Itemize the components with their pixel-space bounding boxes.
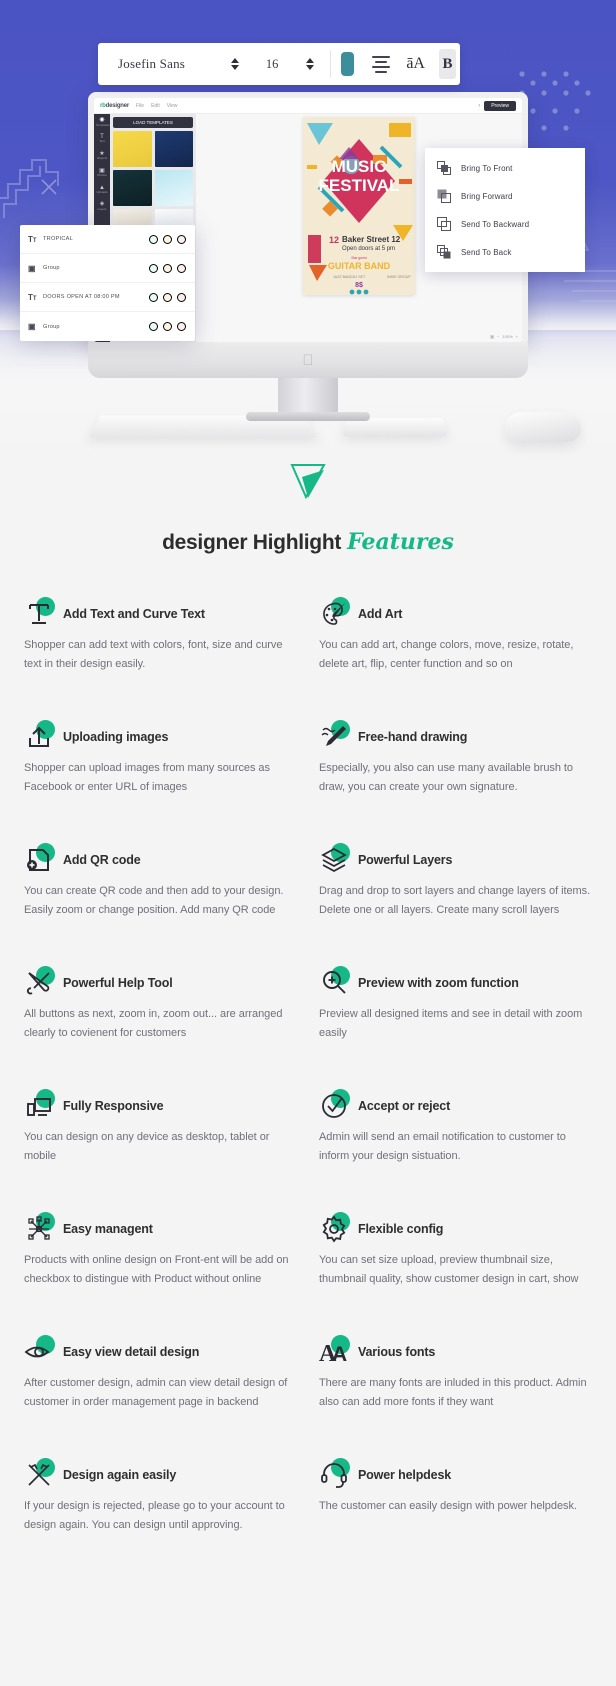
layer-row[interactable]: ▣ Group xyxy=(20,254,195,283)
delete-icon[interactable] xyxy=(177,264,186,273)
rail-label-layers: Layers xyxy=(96,208,108,211)
toolbar-divider xyxy=(330,51,331,77)
feature-description: Drag and drop to sort layers and change … xyxy=(319,882,592,919)
font-family-select[interactable]: Josefin Sans xyxy=(102,56,230,72)
x-decoration xyxy=(40,178,58,196)
feature-title: Preview with zoom function xyxy=(358,976,519,990)
lock-icon[interactable] xyxy=(163,322,172,331)
feature-description: Shopper can add text with colors, font, … xyxy=(24,636,297,673)
svg-text:DJ SET: DJ SET xyxy=(353,275,366,279)
feature-title: Add Text and Curve Text xyxy=(63,607,205,621)
feature-item-accept-or-reject: Accept or reject Admin will send an emai… xyxy=(319,1080,592,1203)
text-layer-icon: TT xyxy=(28,235,43,244)
feature-item-preview-zoom: Preview with zoom function Preview all d… xyxy=(319,957,592,1080)
feature-item-add-qr-code: Add QR code You can create QR code and t… xyxy=(24,834,297,957)
layer-label: TROPICAL xyxy=(43,236,149,242)
feature-item-powerful-help-tool: Powerful Help Tool All buttons as next, … xyxy=(24,957,297,1080)
feature-description: Shopper can upload images from many sour… xyxy=(24,759,297,796)
align-center-icon[interactable] xyxy=(372,56,390,73)
delete-icon[interactable] xyxy=(177,322,186,331)
rail-item-uploads[interactable]: ▲Uploads xyxy=(96,185,108,195)
feature-description: After customer design, admin can view de… xyxy=(24,1374,297,1411)
app-menu-file[interactable]: File xyxy=(136,103,144,109)
bring-to-front-icon xyxy=(437,161,451,175)
feature-description: Admin will send an email notification to… xyxy=(319,1128,592,1165)
app-menu-view[interactable]: View xyxy=(167,103,178,109)
lock-icon[interactable] xyxy=(163,293,172,302)
svg-text:Baker Street 12: Baker Street 12 xyxy=(342,235,401,244)
feature-title: Design again easily xyxy=(63,1468,176,1482)
svg-text:Open doors at 5 pm: Open doors at 5 pm xyxy=(342,246,395,252)
layer-label: DOORS OPEN AT 08:00 PM xyxy=(43,294,149,300)
context-menu-label: Send To Back xyxy=(461,248,511,257)
zoom-value: 100% xyxy=(502,334,512,339)
layer-row[interactable]: TT TROPICAL xyxy=(20,225,195,254)
feature-title: Various fonts xyxy=(358,1345,435,1359)
rail-item-objects[interactable]: ★Objects xyxy=(96,151,108,161)
template-card[interactable] xyxy=(155,170,194,206)
section-header: designer HighlightFeatures xyxy=(0,462,616,555)
app-logo-text: designer xyxy=(106,103,129,109)
layer-row[interactable]: ▣ Group xyxy=(20,312,195,341)
delete-icon[interactable] xyxy=(177,293,186,302)
headset-icon xyxy=(319,1460,349,1490)
feature-title: Free-hand drawing xyxy=(358,730,467,744)
rail-label-templates: Templates xyxy=(96,124,108,127)
feature-item-free-hand-drawing: Free-hand drawing Especially, you also c… xyxy=(319,711,592,834)
palette-icon xyxy=(319,599,349,629)
lock-icon[interactable] xyxy=(163,235,172,244)
feature-item-various-fonts: AA Various fonts There are many fonts ar… xyxy=(319,1326,592,1449)
send-to-back-icon xyxy=(437,245,451,259)
context-menu-label: Bring To Front xyxy=(461,164,513,173)
feature-title: Easy managent xyxy=(63,1222,153,1236)
imac-stand-neck xyxy=(278,378,338,416)
feature-description: All buttons as next, zoom in, zoom out..… xyxy=(24,1005,297,1042)
app-menu-edit[interactable]: Edit xyxy=(151,103,160,109)
imac-chin:  xyxy=(88,342,528,378)
svg-text:FESTIVAL: FESTIVAL xyxy=(319,176,400,195)
network-nodes-icon xyxy=(24,1214,54,1244)
font-size-input[interactable]: 16 xyxy=(239,57,305,72)
rail-item-layers[interactable]: ◈Layers xyxy=(96,201,108,211)
context-menu-label: Bring Forward xyxy=(461,192,513,201)
feature-item-add-art: Add Art You can add art, change colors, … xyxy=(319,588,592,711)
feature-item-design-again-easily: Design again easily If your design is re… xyxy=(24,1449,297,1572)
context-menu-item-bring-forward[interactable]: Bring Forward xyxy=(425,182,585,210)
visibility-icon[interactable] xyxy=(149,322,158,331)
feature-title: Fully Responsive xyxy=(63,1099,163,1113)
template-card[interactable] xyxy=(113,131,152,167)
feature-title: Accept or reject xyxy=(358,1099,450,1113)
feature-item-powerful-layers: Powerful Layers Drag and drop to sort la… xyxy=(319,834,592,957)
feature-title: Flexible config xyxy=(358,1222,443,1236)
svg-text:Star guest: Star guest xyxy=(351,256,367,260)
context-menu-label: Send To Backward xyxy=(461,220,529,229)
load-templates-button[interactable]: LOAD TEMPLATES xyxy=(113,117,193,128)
visibility-icon[interactable] xyxy=(149,264,158,273)
svg-text:GUITAR BAND: GUITAR BAND xyxy=(328,261,391,271)
preview-button[interactable]: Preview xyxy=(484,101,516,111)
feature-title: Add QR code xyxy=(63,853,141,867)
add-text-icon xyxy=(24,599,54,629)
mouse xyxy=(505,412,581,442)
page-root: rbdesigner File Edit View ‹ Preview ◉Tem… xyxy=(0,0,616,1686)
rail-label-objects: Objects xyxy=(96,157,108,160)
zoom-control[interactable]: ▦ − 100% + xyxy=(490,334,518,339)
layer-label: Group xyxy=(43,324,149,330)
feature-description: You can set size upload, preview thumbna… xyxy=(319,1251,592,1288)
bold-button[interactable]: B xyxy=(439,49,456,79)
text-format-toolbar: Josefin Sans 16 āA B xyxy=(98,43,460,85)
feature-item-add-text: Add Text and Curve Text Shopper can add … xyxy=(24,588,297,711)
check-circle-icon xyxy=(319,1091,349,1121)
context-menu-item-send-to-back[interactable]: Send To Back xyxy=(425,238,585,266)
feature-description: Products with online design on Front-ent… xyxy=(24,1251,297,1288)
send-to-backward-icon xyxy=(437,217,451,231)
feature-description: You can design on any device as desktop,… xyxy=(24,1128,297,1165)
layers-panel: TT TROPICAL ▣ Group TT DOORS OPEN AT 08:… xyxy=(20,225,195,341)
app-topbar: rbdesigner File Edit View ‹ Preview xyxy=(94,98,522,114)
feature-item-easy-view-detail: Easy view detail design After customer d… xyxy=(24,1326,297,1449)
group-layer-icon: ▣ xyxy=(28,264,43,273)
pen-pencil-cross-icon xyxy=(24,1460,54,1490)
feature-title: Power helpdesk xyxy=(358,1468,451,1482)
context-menu-item-bring-to-front[interactable]: Bring To Front xyxy=(425,154,585,182)
zoom-out-button[interactable]: − xyxy=(497,334,499,339)
context-menu-item-send-to-backward[interactable]: Send To Backward xyxy=(425,210,585,238)
svg-text:A: A xyxy=(332,1343,347,1366)
rail-label-photos: Photos xyxy=(96,174,108,177)
svg-text:JAZZ BAND: JAZZ BAND xyxy=(333,275,353,279)
eye-icon xyxy=(24,1337,54,1367)
page-title-script: Features xyxy=(347,529,454,555)
delete-icon[interactable] xyxy=(177,235,186,244)
qr-code-icon xyxy=(24,845,54,875)
feature-item-easy-management: Easy managent Products with online desig… xyxy=(24,1203,297,1326)
font-size-stepper[interactable] xyxy=(305,58,314,70)
svg-text:MUSIC: MUSIC xyxy=(332,157,387,176)
feature-item-power-helpdesk: Power helpdesk The customer can easily d… xyxy=(319,1449,592,1572)
feature-title: Powerful Layers xyxy=(358,853,452,867)
upload-icon xyxy=(24,722,54,752)
svg-text:INDIE GROUP: INDIE GROUP xyxy=(387,275,411,279)
feature-title: Easy view detail design xyxy=(63,1345,199,1359)
feature-description: If your design is rejected, please go to… xyxy=(24,1497,297,1534)
template-card[interactable] xyxy=(155,131,194,167)
feature-title: Powerful Help Tool xyxy=(63,976,173,990)
feature-description: The customer can easily design with powe… xyxy=(319,1497,592,1516)
bring-forward-icon xyxy=(437,189,451,203)
group-layer-icon: ▣ xyxy=(28,322,43,331)
brand-arrow-icon xyxy=(288,462,328,500)
text-case-icon[interactable]: āA xyxy=(406,55,425,73)
rail-item-photos[interactable]: ▣Photos xyxy=(96,168,108,178)
visibility-icon[interactable] xyxy=(149,293,158,302)
text-layer-icon: TT xyxy=(28,293,43,302)
zoom-in-button[interactable]: + xyxy=(516,334,518,339)
rail-label-uploads: Uploads xyxy=(96,191,108,194)
hero-section: rbdesigner File Edit View ‹ Preview ◉Tem… xyxy=(0,0,616,470)
layer-label: Group xyxy=(43,265,149,271)
template-card[interactable] xyxy=(113,170,152,206)
page-title-main: designer Highlight xyxy=(162,531,341,554)
rail-item-templates[interactable]: ◉Templates xyxy=(96,117,108,127)
poster-artwork[interactable]: MUSIC FESTIVAL 12 Baker Street 12 Open d… xyxy=(303,117,415,295)
feature-title: Uploading images xyxy=(63,730,168,744)
feature-item-uploading-images: Uploading images Shopper can upload imag… xyxy=(24,711,297,834)
svg-text:12: 12 xyxy=(329,235,339,245)
app-logo: rbdesigner xyxy=(100,103,129,109)
layers-icon xyxy=(319,845,349,875)
feature-description: Especially, you also can use many availa… xyxy=(319,759,592,796)
svg-text:8$: 8$ xyxy=(355,282,363,289)
tools-icon xyxy=(24,968,54,998)
zoom-search-icon xyxy=(319,968,349,998)
layer-row[interactable]: TT DOORS OPEN AT 08:00 PM xyxy=(20,283,195,312)
fonts-aa-icon: AA xyxy=(319,1337,349,1367)
page-title: designer HighlightFeatures xyxy=(0,529,616,555)
feature-description: Preview all designed items and see in de… xyxy=(319,1005,592,1042)
visibility-icon[interactable] xyxy=(149,235,158,244)
text-color-swatch[interactable] xyxy=(341,52,355,76)
features-grid: Add Text and Curve Text Shopper can add … xyxy=(0,588,616,1572)
rail-label-text: Text xyxy=(96,140,108,143)
feature-item-flexible-config: Flexible config You can set size upload,… xyxy=(319,1203,592,1326)
responsive-devices-icon xyxy=(24,1091,54,1121)
feature-description: There are many fonts are inluded in this… xyxy=(319,1374,592,1411)
apple-logo-icon:  xyxy=(302,353,313,368)
rail-item-text[interactable]: TText xyxy=(96,134,108,144)
feature-title: Add Art xyxy=(358,607,402,621)
share-icon[interactable]: ‹ xyxy=(478,103,480,109)
font-family-stepper[interactable] xyxy=(230,58,239,70)
feature-description: You can create QR code and then add to y… xyxy=(24,882,297,919)
imac-stand-base xyxy=(246,412,370,421)
pencil-draw-icon xyxy=(319,722,349,752)
layer-order-context-menu: Bring To Front Bring Forward Send To Bac… xyxy=(425,148,585,272)
lock-icon[interactable] xyxy=(163,264,172,273)
zoom-grid-icon: ▦ xyxy=(490,334,494,339)
feature-description: You can add art, change colors, move, re… xyxy=(319,636,592,673)
gear-icon xyxy=(319,1214,349,1244)
feature-item-fully-responsive: Fully Responsive You can design on any d… xyxy=(24,1080,297,1203)
